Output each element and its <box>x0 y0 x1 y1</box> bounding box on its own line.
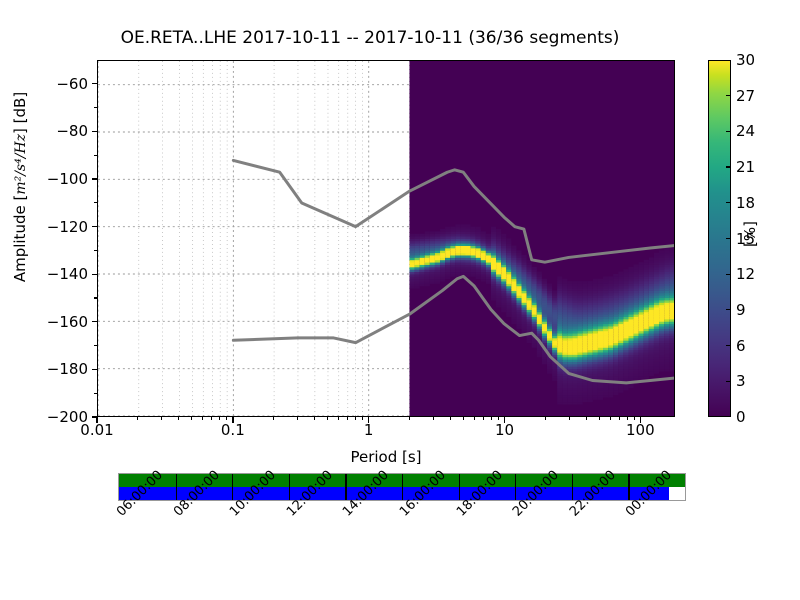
colorbar-tick-mark <box>726 309 731 310</box>
y-minor-tick-mark <box>94 345 98 346</box>
x-minor-tick-mark <box>433 416 434 420</box>
x-minor-tick-mark <box>362 416 363 420</box>
y-minor-tick-mark <box>94 155 98 156</box>
colorbar-tick-label: 27 <box>736 87 755 105</box>
x-minor-tick-mark <box>226 416 227 420</box>
x-minor-tick-mark <box>627 416 628 420</box>
x-minor-tick-mark <box>137 416 138 420</box>
y-axis-label-units: m²/s⁴/Hz <box>13 134 29 195</box>
x-tick-mark <box>96 416 97 423</box>
y-tick-mark <box>92 369 98 370</box>
noise-model-curves <box>98 61 674 416</box>
colorbar-tick-mark <box>726 95 731 96</box>
x-minor-tick-mark <box>327 416 328 420</box>
x-tick-mark <box>504 416 505 423</box>
x-tick-mark <box>368 416 369 423</box>
x-minor-tick-mark <box>619 416 620 420</box>
y-tick-mark <box>92 226 98 227</box>
x-minor-tick-mark <box>634 416 635 420</box>
timeline-tick <box>572 474 573 500</box>
y-tick-label: −180 <box>18 360 88 378</box>
x-minor-tick-mark <box>491 416 492 420</box>
x-minor-tick-mark <box>474 416 475 420</box>
timeline-tick <box>345 474 346 500</box>
x-minor-tick-mark <box>409 416 410 420</box>
timeline-tick <box>289 474 290 500</box>
y-minor-tick-mark <box>94 107 98 108</box>
colorbar-tick-mark <box>726 274 731 275</box>
colorbar-tick-mark <box>726 166 731 167</box>
x-tick-label: 10 <box>464 421 544 439</box>
x-axis-label: Period [s] <box>97 448 675 466</box>
x-minor-tick-mark <box>498 416 499 420</box>
x-minor-tick-mark <box>355 416 356 420</box>
x-tick-mark <box>232 416 233 423</box>
y-tick-mark <box>92 178 98 179</box>
ppsd-plot-area[interactable] <box>97 60 675 417</box>
colorbar-tick-label: 3 <box>736 372 746 390</box>
timeline-tick <box>232 474 233 500</box>
timeline-tick <box>402 474 403 500</box>
colorbar-tick-mark <box>726 131 731 132</box>
x-minor-tick-mark <box>450 416 451 420</box>
colorbar-tick-mark <box>726 381 731 382</box>
x-minor-tick-mark <box>569 416 570 420</box>
colorbar-tick-mark <box>726 238 731 239</box>
x-minor-tick-mark <box>463 416 464 420</box>
y-minor-tick-mark <box>94 297 98 298</box>
x-minor-tick-mark <box>202 416 203 420</box>
x-minor-tick-mark <box>483 416 484 420</box>
y-minor-tick-mark <box>94 393 98 394</box>
timeline-tick <box>515 474 516 500</box>
x-minor-tick-mark <box>161 416 162 420</box>
timeline-tick <box>176 474 177 500</box>
colorbar-tick-mark <box>726 202 731 203</box>
y-tick-mark <box>92 131 98 132</box>
timeline-tick <box>628 474 629 500</box>
x-minor-tick-mark <box>586 416 587 420</box>
y-axis-label-suffix: ] [dB] <box>11 92 29 134</box>
colorbar-tick-mark <box>726 345 731 346</box>
x-minor-tick-mark <box>545 416 546 420</box>
colorbar-tick-label: 0 <box>736 408 746 426</box>
x-minor-tick-mark <box>314 416 315 420</box>
y-tick-mark <box>92 83 98 84</box>
y-axis-label-prefix: Amplitude [ <box>11 195 29 283</box>
x-tick-label: 0.01 <box>57 421 137 439</box>
colorbar-tick-label: 30 <box>736 51 755 69</box>
x-minor-tick-mark <box>610 416 611 420</box>
x-minor-tick-mark <box>347 416 348 420</box>
colorbar-label: [%] <box>741 164 759 304</box>
x-minor-tick-mark <box>178 416 179 420</box>
x-minor-tick-mark <box>219 416 220 420</box>
y-minor-tick-mark <box>94 202 98 203</box>
x-minor-tick-mark <box>191 416 192 420</box>
y-axis-label: Amplitude [m²/s⁴/Hz] [dB] <box>11 17 29 357</box>
y-tick-mark <box>92 274 98 275</box>
x-minor-tick-mark <box>273 416 274 420</box>
x-tick-label: 1 <box>329 421 409 439</box>
colorbar-tick-label: 6 <box>736 337 746 355</box>
timeline-tick <box>459 474 460 500</box>
x-tick-mark <box>640 416 641 423</box>
y-tick-mark <box>92 321 98 322</box>
ppsd-figure: OE.RETA..LHE 2017-10-11 -- 2017-10-11 (3… <box>0 0 800 600</box>
x-minor-tick-mark <box>338 416 339 420</box>
x-tick-label: 0.1 <box>193 421 273 439</box>
y-minor-tick-mark <box>94 250 98 251</box>
colorbar-tick-label: 24 <box>736 122 755 140</box>
x-minor-tick-mark <box>211 416 212 420</box>
page-title: OE.RETA..LHE 2017-10-11 -- 2017-10-11 (3… <box>0 28 740 48</box>
x-minor-tick-mark <box>599 416 600 420</box>
x-minor-tick-mark <box>297 416 298 420</box>
x-tick-label: 100 <box>600 421 680 439</box>
